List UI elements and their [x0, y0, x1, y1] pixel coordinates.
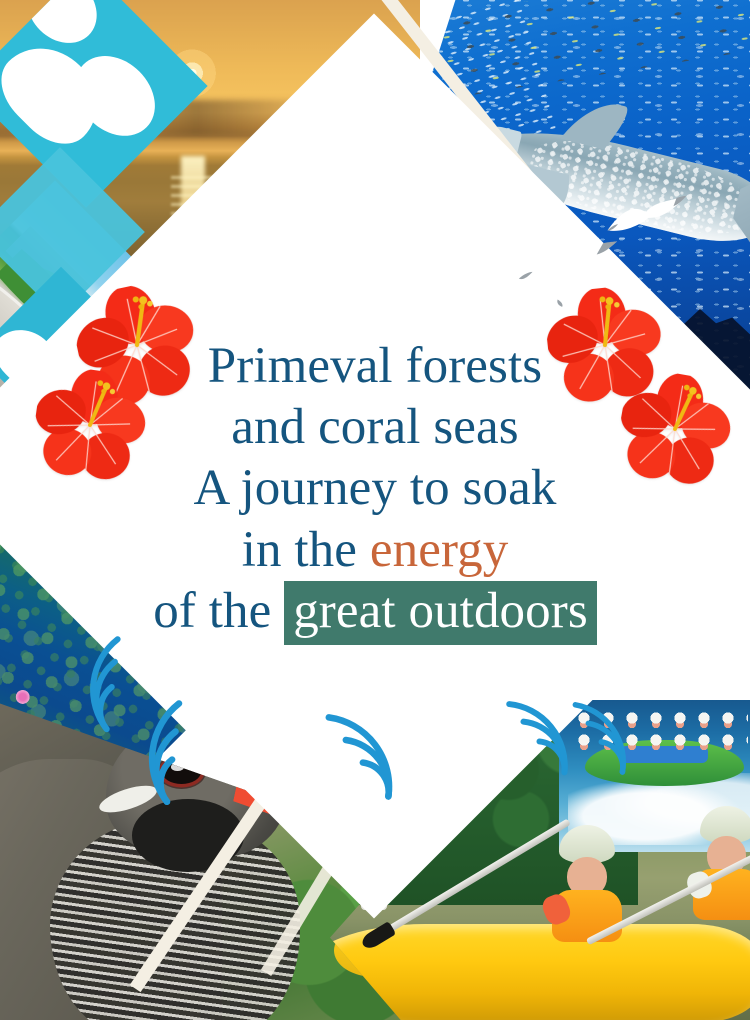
headline-line-4: in the energy	[0, 520, 750, 581]
kayaker-front	[559, 825, 615, 937]
headline-highlight-great-outdoors: great outdoors	[284, 581, 597, 645]
hero-banner: Primeval forests and coral seas A journe…	[0, 0, 750, 1020]
headline-line-5: of the great outdoors	[0, 581, 750, 642]
seagull-silhouette-icon	[515, 237, 621, 284]
hibiscus-flower-icon	[611, 365, 738, 492]
yellow-kayak-hull	[330, 924, 750, 1020]
headline-line-4-prefix: in the	[242, 522, 370, 578]
headline-line-5-prefix: of the	[153, 583, 284, 639]
hibiscus-flower-icon	[28, 363, 152, 487]
water-ripple-arc	[543, 695, 640, 779]
headline-accent-energy: energy	[370, 522, 508, 578]
water-ripple-arc	[285, 703, 406, 803]
